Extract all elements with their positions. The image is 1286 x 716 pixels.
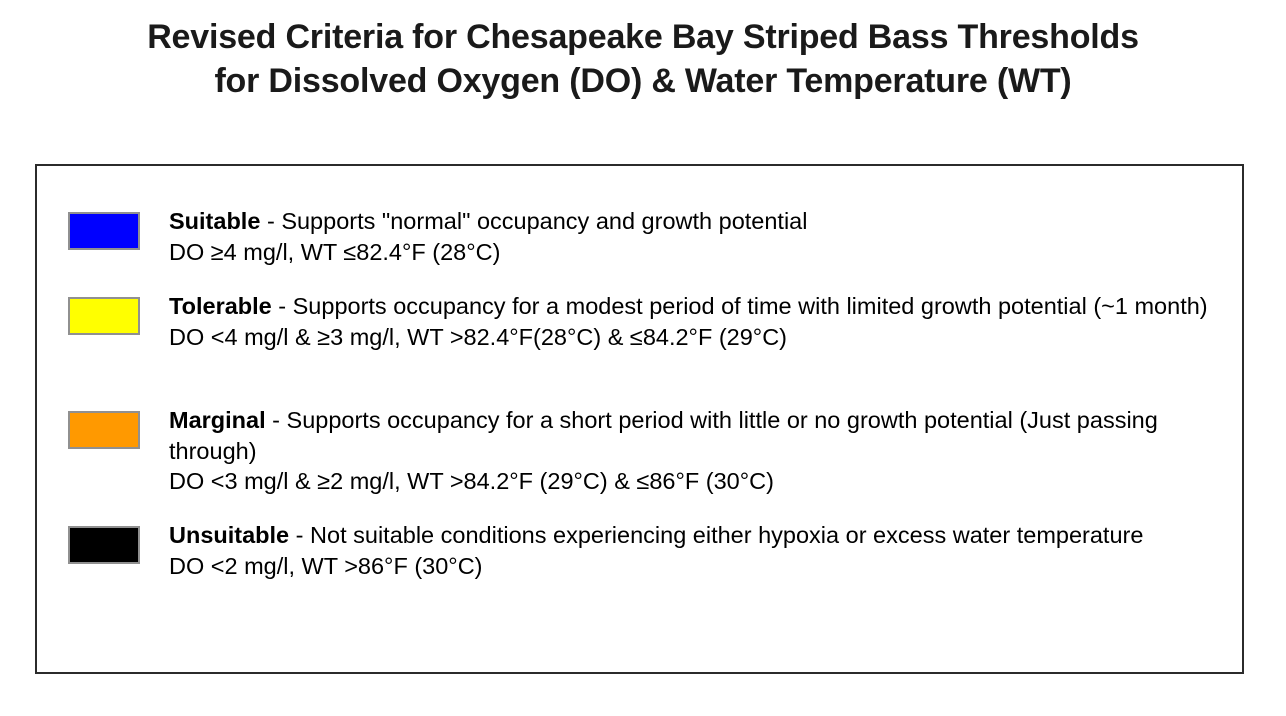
- legend-text-marginal: Marginal - Supports occupancy for a shor…: [169, 405, 1242, 497]
- legend-entry-tolerable: Tolerable - Supports occupancy for a mod…: [37, 291, 1242, 352]
- legend-panel: Suitable - Supports "normal" occupancy a…: [35, 164, 1244, 674]
- legend-description-marginal: Supports occupancy for a short period wi…: [169, 407, 1158, 464]
- swatch-cell-tolerable: [37, 291, 169, 335]
- legend-description-suitable: Supports "normal" occupancy and growth p…: [281, 208, 807, 234]
- legend-text-unsuitable: Unsuitable - Not suitable conditions exp…: [169, 520, 1242, 581]
- legend-description-tolerable: Supports occupancy for a modest period o…: [293, 293, 1208, 319]
- legend-values-marginal: DO <3 mg/l & ≥2 mg/l, WT >84.2°F (29°C) …: [169, 466, 1224, 497]
- legend-name-unsuitable: Unsuitable: [169, 522, 289, 548]
- legend-name-suitable: Suitable: [169, 208, 260, 234]
- color-swatch-black: [68, 526, 140, 564]
- swatch-cell-suitable: [37, 206, 169, 250]
- swatch-cell-marginal: [37, 405, 169, 449]
- legend-entry-unsuitable: Unsuitable - Not suitable conditions exp…: [37, 520, 1242, 581]
- legend-name-tolerable: Tolerable: [169, 293, 272, 319]
- legend-separator-unsuitable: -: [289, 522, 310, 548]
- legend-entry-suitable: Suitable - Supports "normal" occupancy a…: [37, 206, 1242, 267]
- color-swatch-yellow: [68, 297, 140, 335]
- page-title-line-2: for Dissolved Oxygen (DO) & Water Temper…: [40, 60, 1246, 104]
- swatch-cell-unsuitable: [37, 520, 169, 564]
- legend-entry-marginal: Marginal - Supports occupancy for a shor…: [37, 405, 1242, 497]
- legend-values-suitable: DO ≥4 mg/l, WT ≤82.4°F (28°C): [169, 237, 1224, 268]
- legend-separator-suitable: -: [260, 208, 281, 234]
- legend-separator-marginal: -: [266, 407, 287, 433]
- color-swatch-orange: [68, 411, 140, 449]
- legend-values-unsuitable: DO <2 mg/l, WT >86°F (30°C): [169, 551, 1224, 582]
- legend-text-tolerable: Tolerable - Supports occupancy for a mod…: [169, 291, 1242, 352]
- legend-description-unsuitable: Not suitable conditions experiencing eit…: [310, 522, 1143, 548]
- page-title-line-1: Revised Criteria for Chesapeake Bay Stri…: [40, 16, 1246, 60]
- legend-text-suitable: Suitable - Supports "normal" occupancy a…: [169, 206, 1242, 267]
- legend-name-marginal: Marginal: [169, 407, 266, 433]
- legend-values-tolerable: DO <4 mg/l & ≥3 mg/l, WT >82.4°F(28°C) &…: [169, 322, 1224, 353]
- legend-separator-tolerable: -: [272, 293, 293, 319]
- color-swatch-blue: [68, 212, 140, 250]
- page-title: Revised Criteria for Chesapeake Bay Stri…: [40, 16, 1246, 103]
